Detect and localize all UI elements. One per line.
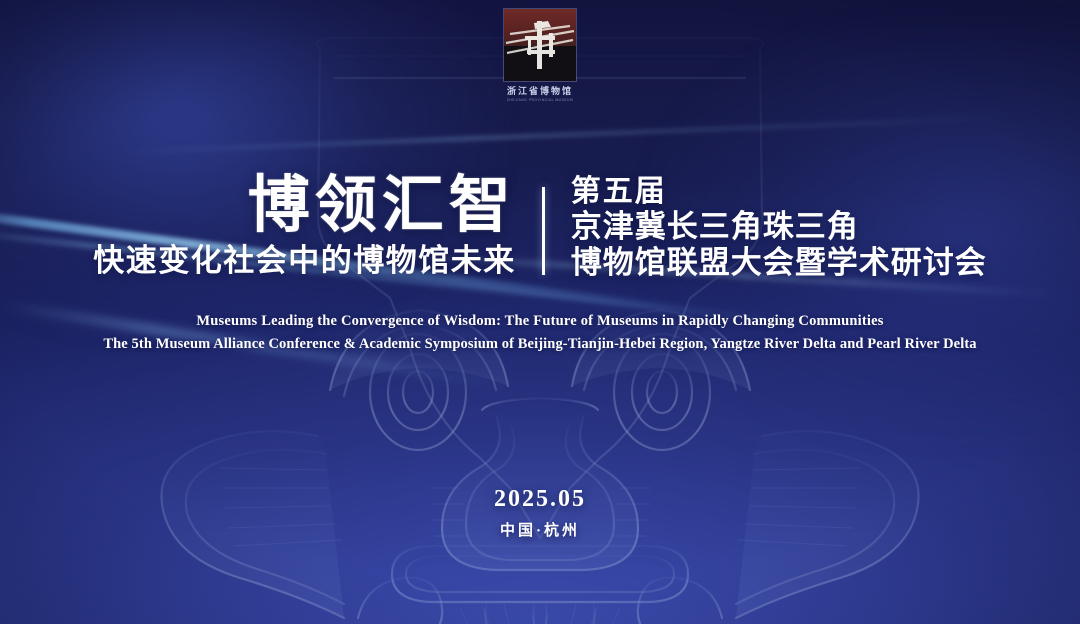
museum-logo: 浙江省博物馆 ZHEJIANG PROVINCIAL MUSEUM <box>494 8 586 102</box>
headline-right: 第五届 京津冀长三角珠三角 博物馆联盟大会暨学术研讨会 <box>545 175 987 281</box>
event-date: 2025.05 <box>0 486 1080 513</box>
english-subtitle-line-1: Museums Leading the Convergence of Wisdo… <box>0 312 1080 332</box>
page-subtitle: 快速变化社会中的博物馆未来 <box>93 244 516 278</box>
museum-logo-name: 浙江省博物馆 <box>494 87 586 96</box>
event-name-line: 博物馆联盟大会暨学术研讨会 <box>571 245 987 281</box>
english-subtitle-block: Museums Leading the Convergence of Wisdo… <box>0 312 1080 354</box>
conference-poster: 浙江省博物馆 ZHEJIANG PROVINCIAL MUSEUM 博领汇智 快… <box>0 0 1080 624</box>
headline-left: 博领汇智 快速变化社会中的博物馆未来 <box>93 175 542 281</box>
bronze-artifact-logo-icon <box>503 8 577 82</box>
event-location: 中国·杭州 <box>0 519 1080 540</box>
headline-block: 博领汇智 快速变化社会中的博物馆未来 第五届 京津冀长三角珠三角 博物馆联盟大会… <box>0 175 1080 281</box>
background-glow-left <box>0 0 500 330</box>
date-block: 2025.05 中国·杭州 <box>0 486 1080 540</box>
page-title: 博领汇智 <box>93 175 516 238</box>
museum-logo-name-en: ZHEJIANG PROVINCIAL MUSEUM <box>496 99 583 103</box>
organizer-region-line: 京津冀长三角珠三角 <box>571 209 987 245</box>
edition-label: 第五届 <box>571 175 987 209</box>
english-subtitle-line-2: The 5th Museum Alliance Conference & Aca… <box>0 335 1080 355</box>
